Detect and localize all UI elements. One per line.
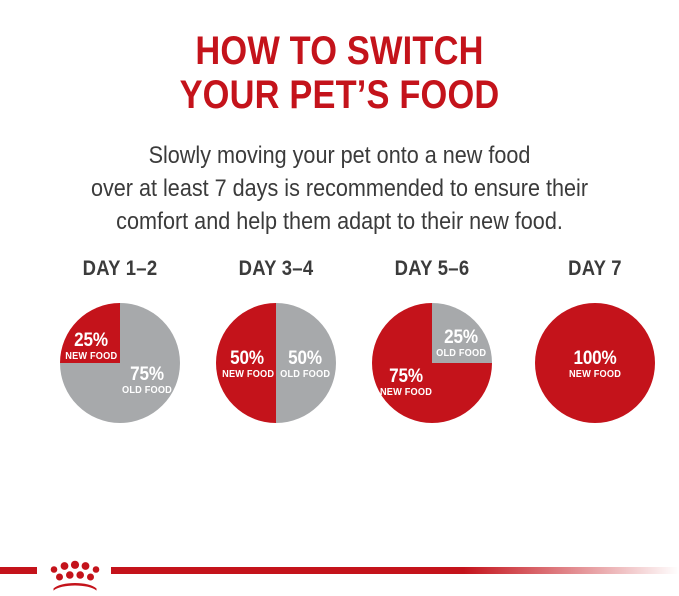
footer-rule-right bbox=[111, 567, 679, 574]
pie-chart-row: DAY 1–2 25% NEW FOOD 75% OLD FOOD DAY 3–… bbox=[0, 258, 679, 438]
slice-pct-new-food-2: 50% bbox=[223, 349, 272, 368]
slice-sub-new-food-2: NEW FOOD bbox=[222, 370, 272, 380]
pie-graphic-75-new-food bbox=[372, 303, 492, 423]
slice-sub-new-food-4: NEW FOOD bbox=[560, 370, 630, 380]
slice-pct-old-food-2: 50% bbox=[281, 349, 330, 368]
slice-label-new-food-3: 75% NEW FOOD bbox=[376, 367, 436, 398]
slice-label-new-food-4: 100% NEW FOOD bbox=[557, 349, 633, 380]
footer-brand-bar bbox=[0, 557, 679, 594]
slice-label-old-food-2: 50% OLD FOOD bbox=[278, 349, 332, 380]
slice-sub-new-food-1: NEW FOOD bbox=[65, 352, 117, 362]
page-title: HOW TO SWITCH YOUR PET’S FOOD bbox=[48, 29, 632, 117]
intro-line-3: comfort and help them adapt to their new… bbox=[34, 205, 645, 238]
slice-sub-new-food-3: NEW FOOD bbox=[378, 388, 433, 398]
slice-pct-old-food-1: 75% bbox=[121, 365, 173, 384]
pie-wrap-2: 50% NEW FOOD 50% OLD FOOD bbox=[216, 303, 336, 423]
pie-chart-day-3-4: DAY 3–4 50% NEW FOOD 50% OLD FOOD bbox=[196, 258, 356, 438]
slice-pct-new-food-3: 75% bbox=[379, 367, 433, 386]
crown-icon bbox=[41, 557, 109, 591]
slice-label-old-food-1: 75% OLD FOOD bbox=[118, 365, 176, 396]
slice-sub-old-food-2: OLD FOOD bbox=[280, 370, 330, 380]
intro-line-2: over at least 7 days is recommended to e… bbox=[34, 172, 645, 205]
day-label-1: DAY 1–2 bbox=[50, 258, 191, 284]
page-title-line-2: YOUR PET’S FOOD bbox=[48, 73, 632, 117]
slice-label-old-food-3: 25% OLD FOOD bbox=[434, 328, 488, 359]
infographic-page: { "title": { "line1": "HOW TO SWITCH", "… bbox=[0, 0, 679, 594]
slice-pct-new-food-1: 25% bbox=[66, 331, 116, 350]
slice-sub-old-food-3: OLD FOOD bbox=[436, 349, 486, 359]
day-label-4: DAY 7 bbox=[525, 258, 666, 284]
intro-line-1: Slowly moving your pet onto a new food bbox=[34, 139, 645, 172]
day-label-2: DAY 3–4 bbox=[206, 258, 347, 284]
slice-pct-old-food-3: 25% bbox=[437, 328, 486, 347]
day-label-3: DAY 5–6 bbox=[362, 258, 503, 284]
pie-wrap-4: 100% NEW FOOD bbox=[535, 303, 655, 423]
pie-wrap-1: 25% NEW FOOD 75% OLD FOOD bbox=[60, 303, 180, 423]
page-title-line-1: HOW TO SWITCH bbox=[48, 29, 632, 73]
pie-chart-day-1-2: DAY 1–2 25% NEW FOOD 75% OLD FOOD bbox=[40, 258, 200, 438]
pie-graphic-25-new-food bbox=[60, 303, 180, 423]
intro-paragraph: Slowly moving your pet onto a new food o… bbox=[34, 139, 645, 238]
pie-chart-day-7: DAY 7 100% NEW FOOD bbox=[515, 258, 675, 438]
pie-wrap-3: 25% OLD FOOD 75% NEW FOOD bbox=[372, 303, 492, 423]
slice-sub-old-food-1: OLD FOOD bbox=[120, 386, 173, 396]
slice-label-new-food-1: 25% NEW FOOD bbox=[63, 331, 119, 362]
footer-rule-left bbox=[0, 567, 37, 574]
slice-pct-new-food-4: 100% bbox=[561, 349, 629, 368]
slice-label-new-food-2: 50% NEW FOOD bbox=[220, 349, 274, 380]
pie-chart-day-5-6: DAY 5–6 25% OLD FOOD 75% NEW FOOD bbox=[352, 258, 512, 438]
